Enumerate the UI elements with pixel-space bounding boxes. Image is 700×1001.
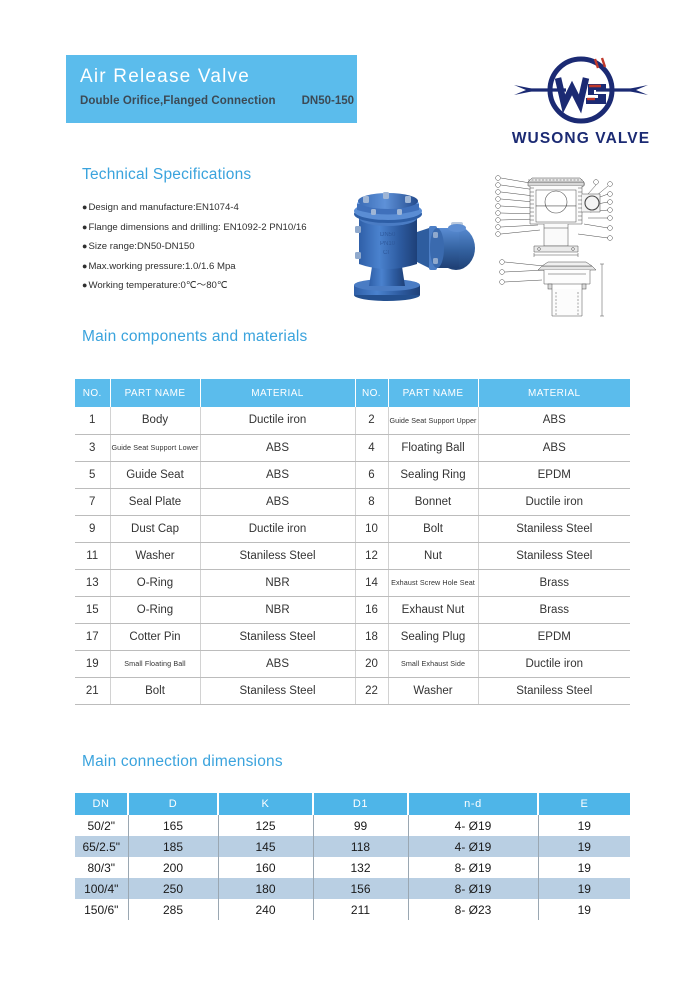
dimensions-table-body: 50/2"165125994- Ø191965/2.5"1851451184- … [75,815,630,920]
cell-dn: 100/4" [75,878,128,899]
table-header-row: NO. PART NAME MATERIAL NO. PART NAME MAT… [75,379,630,407]
cell-no: 9 [75,515,110,542]
cell-no: 8 [355,488,388,515]
cell-material: EPDM [478,623,630,650]
cell-no: 18 [355,623,388,650]
cell-part-name: Guide Seat Support Upper [388,407,478,434]
cell-part-name: Nut [388,542,478,569]
column-header-e: E [538,793,630,815]
cell-no: 14 [355,569,388,596]
cell-material: Staniless Steel [200,542,355,569]
spec-text: Working temperature:0℃～80℃ [88,280,227,291]
cell-no: 1 [75,407,110,434]
table-row: 3Guide Seat Support LowerABS4Floating Ba… [75,434,630,461]
cell-material: Staniless Steel [478,677,630,704]
table-row: 9Dust CapDuctile iron10BoltStaniless Ste… [75,515,630,542]
cell-material: Staniless Steel [200,623,355,650]
cell-nd: 4- Ø19 [408,815,538,836]
cell-no: 3 [75,434,110,461]
table-row: 1BodyDuctile iron2Guide Seat Support Upp… [75,407,630,434]
cell-no: 11 [75,542,110,569]
cell-part-name: O-Ring [110,596,200,623]
spec-item: ●Design and manufacture:EN1074-4 [82,198,342,218]
cell-nd: 8- Ø19 [408,857,538,878]
cell-dn: 80/3" [75,857,128,878]
page-title: Air Release Valve [80,64,357,90]
cell-part-name: Bolt [110,677,200,704]
column-header-partname-2: PART NAME [388,379,478,407]
table-row: 65/2.5"1851451184- Ø1919 [75,836,630,857]
cell-part-name: Bolt [388,515,478,542]
specifications-heading: Technical Specifications [82,166,251,184]
cell-no: 4 [355,434,388,461]
cell-e: 19 [538,815,630,836]
cell-no: 5 [75,461,110,488]
cell-k: 180 [218,878,313,899]
table-row: 150/6"2852402118- Ø2319 [75,899,630,920]
spec-item: ●Max.working pressure:1.0/1.6 Mpa [82,257,342,277]
table-row: 50/2"165125994- Ø1919 [75,815,630,836]
table-row: 13O-RingNBR14Exhaust Screw Hole SeatBras… [75,569,630,596]
cell-no: 21 [75,677,110,704]
cell-material: Brass [478,569,630,596]
wusong-logo-icon [496,52,666,128]
page-subtitle: Double Orifice,Flanged Connection [80,95,276,107]
cell-k: 145 [218,836,313,857]
table-row: 100/4"2501801568- Ø1919 [75,878,630,899]
components-heading: Main components and materials [82,328,308,346]
svg-text:CI: CI [383,250,389,256]
cell-material: NBR [200,569,355,596]
cell-no: 16 [355,596,388,623]
table-row: 5Guide SeatABS6Sealing RingEPDM [75,461,630,488]
cell-dn: 65/2.5" [75,836,128,857]
spec-text: Max.working pressure:1.0/1.6 Mpa [88,261,235,272]
page-header: Air Release Valve Double Orifice,Flanged… [0,0,700,150]
spec-item: ●Flange dimensions and drilling: EN1092-… [82,218,342,238]
column-header-dn: DN [75,793,128,815]
cell-material: Ductile iron [478,650,630,677]
cell-e: 19 [538,878,630,899]
cell-part-name: Exhaust Nut [388,596,478,623]
cell-no: 7 [75,488,110,515]
cell-material: Ductile iron [200,515,355,542]
cell-dn: 150/6" [75,899,128,920]
size-range-badge: DN50-150 [302,95,354,107]
column-header-no-2: NO. [355,379,388,407]
cell-no: 10 [355,515,388,542]
cell-material: Staniless Steel [200,677,355,704]
specifications-list: ●Design and manufacture:EN1074-4 ●Flange… [82,198,342,296]
column-header-partname-1: PART NAME [110,379,200,407]
valve-cross-section-drawing [492,172,640,258]
table-row: 21BoltStaniless Steel22WasherStaniless S… [75,677,630,704]
cell-no: 12 [355,542,388,569]
table-header-row: DN D K D1 n-d E [75,793,630,815]
cell-d: 165 [128,815,218,836]
bullet-icon: ● [82,280,87,290]
cell-part-name: Small Floating Ball [110,650,200,677]
spec-text: Flange dimensions and drilling: EN1092-2… [88,222,306,233]
cell-no: 15 [75,596,110,623]
cell-d: 250 [128,878,218,899]
cell-material: ABS [200,461,355,488]
cell-part-name: Washer [388,677,478,704]
cell-material: ABS [478,434,630,461]
bullet-icon: ● [82,202,87,212]
cell-part-name: Bonnet [388,488,478,515]
table-row: 19Small Floating BallABS20Small Exhaust … [75,650,630,677]
brand-logo: WUSONG VALVE [496,52,666,148]
bullet-icon: ● [82,222,87,232]
valve-outline-drawing [496,256,636,318]
cell-material: ABS [200,488,355,515]
cell-part-name: Body [110,407,200,434]
cell-no: 20 [355,650,388,677]
column-header-k: K [218,793,313,815]
components-table-body: 1BodyDuctile iron2Guide Seat Support Upp… [75,407,630,704]
cell-d1: 211 [313,899,408,920]
cell-material: NBR [200,596,355,623]
cell-no: 13 [75,569,110,596]
cell-part-name: O-Ring [110,569,200,596]
product-photo: DN50 PN10 CI [325,182,495,306]
cell-part-name: Small Exhaust Side [388,650,478,677]
spec-text: Size range:DN50-DN150 [88,241,194,252]
bullet-icon: ● [82,241,87,251]
cell-e: 19 [538,899,630,920]
table-row: 15O-RingNBR16Exhaust NutBrass [75,596,630,623]
cell-material: Staniless Steel [478,515,630,542]
cell-material: ABS [200,434,355,461]
table-row: 7Seal PlateABS8BonnetDuctile iron [75,488,630,515]
cell-material: Staniless Steel [478,542,630,569]
cell-part-name: Cotter Pin [110,623,200,650]
spec-item: ●Size range:DN50-DN150 [82,237,342,257]
cell-part-name: Exhaust Screw Hole Seat [388,569,478,596]
cell-no: 19 [75,650,110,677]
cell-k: 240 [218,899,313,920]
cell-no: 17 [75,623,110,650]
table-row: 80/3"2001601328- Ø1919 [75,857,630,878]
cell-d1: 99 [313,815,408,836]
cell-d1: 156 [313,878,408,899]
column-header-d: D [128,793,218,815]
table-row: 17Cotter PinStaniless Steel18Sealing Plu… [75,623,630,650]
cell-nd: 8- Ø23 [408,899,538,920]
cell-material: EPDM [478,461,630,488]
column-header-material-1: MATERIAL [200,379,355,407]
cell-dn: 50/2" [75,815,128,836]
cell-d1: 132 [313,857,408,878]
column-header-d1: D1 [313,793,408,815]
cell-e: 19 [538,857,630,878]
cell-material: ABS [478,407,630,434]
cell-part-name: Dust Cap [110,515,200,542]
column-header-no-1: NO. [75,379,110,407]
brand-name: WUSONG VALVE [496,130,666,148]
cell-part-name: Seal Plate [110,488,200,515]
cell-part-name: Guide Seat [110,461,200,488]
components-table: NO. PART NAME MATERIAL NO. PART NAME MAT… [75,379,630,705]
svg-text:DN50: DN50 [380,232,396,238]
cell-d: 200 [128,857,218,878]
table-row: 11WasherStaniless Steel12NutStaniless St… [75,542,630,569]
cell-part-name: Guide Seat Support Lower [110,434,200,461]
column-header-material-2: MATERIAL [478,379,630,407]
cell-no: 2 [355,407,388,434]
cell-part-name: Floating Ball [388,434,478,461]
cell-part-name: Sealing Ring [388,461,478,488]
cell-d1: 118 [313,836,408,857]
spec-text: Design and manufacture:EN1074-4 [88,202,238,213]
cell-part-name: Sealing Plug [388,623,478,650]
cell-nd: 4- Ø19 [408,836,538,857]
cell-no: 22 [355,677,388,704]
cell-material: Ductile iron [200,407,355,434]
cell-k: 125 [218,815,313,836]
cell-material: ABS [200,650,355,677]
bullet-icon: ● [82,261,87,271]
column-header-nd: n-d [408,793,538,815]
cell-d: 185 [128,836,218,857]
cell-e: 19 [538,836,630,857]
dimensions-table: DN D K D1 n-d E 50/2"165125994- Ø191965/… [75,793,630,920]
cell-nd: 8- Ø19 [408,878,538,899]
title-subtitle-row: Double Orifice,Flanged Connection DN50-1… [80,95,357,107]
title-banner: Air Release Valve Double Orifice,Flanged… [66,55,357,123]
cell-part-name: Washer [110,542,200,569]
cell-no: 6 [355,461,388,488]
svg-text:PN10: PN10 [380,241,396,247]
spec-item: ●Working temperature:0℃～80℃ [82,276,342,296]
cell-material: Ductile iron [478,488,630,515]
cell-material: Brass [478,596,630,623]
dimensions-heading: Main connection dimensions [82,753,283,771]
cell-k: 160 [218,857,313,878]
cell-d: 285 [128,899,218,920]
